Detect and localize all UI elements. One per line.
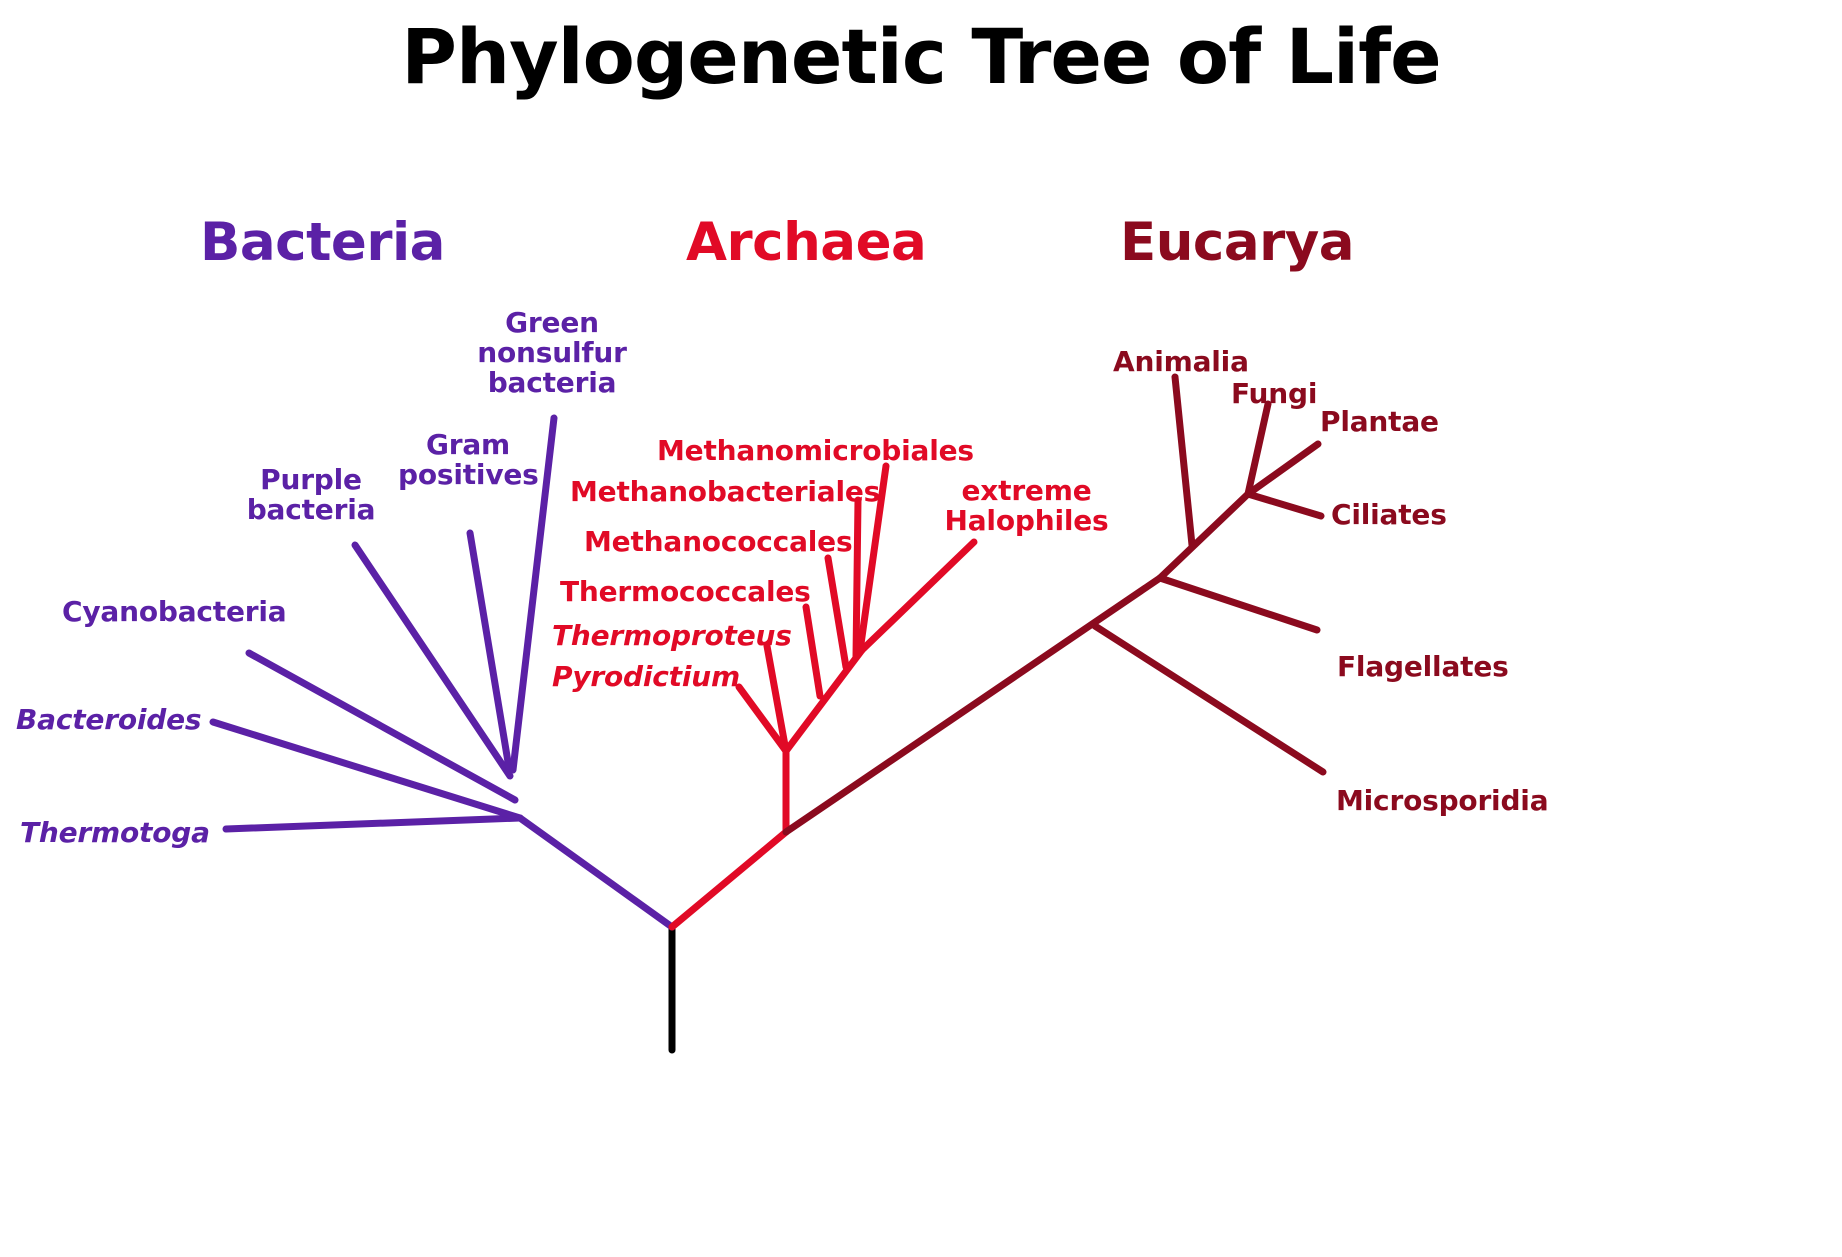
branch-purple xyxy=(355,545,510,776)
tree-branches-canvas xyxy=(0,0,1842,1257)
phylogenetic-tree-figure: Phylogenetic Tree of Life BacteriaArchae… xyxy=(0,0,1842,1257)
taxon-label-plantae: Plantae xyxy=(1320,407,1445,437)
branch-methanococcales xyxy=(828,558,846,667)
branch-thermococcales xyxy=(806,607,820,696)
taxon-label-flagellates: Flagellates xyxy=(1337,652,1512,682)
branch-halophiles xyxy=(862,542,974,650)
archaea-crown-1 xyxy=(786,650,862,751)
taxon-label-gram-positives: Gram positives xyxy=(398,430,538,490)
taxon-label-thermococcales: Thermococcales xyxy=(560,577,810,607)
taxon-label-methanobacteriales: Methanobacteriales xyxy=(570,477,875,507)
taxon-label-pyrodictium: Pyrodictium xyxy=(552,662,747,692)
domain-header-eucarya: Eucarya xyxy=(1120,212,1354,273)
eucarya-node-stem xyxy=(1160,494,1248,578)
taxon-label-methanococcales: Methanococcales xyxy=(584,527,846,557)
taxon-label-ciliates: Ciliates xyxy=(1331,500,1451,530)
taxon-label-extreme-halophiles: extreme Halophiles xyxy=(944,476,1109,536)
domain-header-archaea: Archaea xyxy=(686,212,926,273)
taxon-label-microsporidia: Microsporidia xyxy=(1336,786,1551,816)
branch-methanobacteriales xyxy=(856,500,858,657)
archaea-trunk xyxy=(672,832,786,927)
taxon-label-green-nonsulfur-bacteria: Green nonsulfur bacteria xyxy=(472,308,632,399)
branch-gram xyxy=(470,533,509,768)
branch-animalia xyxy=(1175,377,1192,545)
branch-bacteroides xyxy=(213,722,520,818)
bacteria-trunk xyxy=(520,818,672,927)
taxon-label-cyanobacteria: Cyanobacteria xyxy=(62,597,302,627)
branch-flagellates xyxy=(1160,578,1317,630)
branch-ciliates xyxy=(1248,494,1321,516)
taxon-label-purple-bacteria: Purple bacteria xyxy=(236,465,386,525)
eucarya-trunk xyxy=(786,578,1160,832)
taxon-label-bacteroides: Bacteroides xyxy=(16,705,216,735)
branch-thermotoga xyxy=(226,818,520,829)
taxon-label-thermoproteus: Thermoproteus xyxy=(552,621,792,651)
taxon-label-animalia: Animalia xyxy=(1113,347,1258,377)
taxon-label-methanomicrobiales: Methanomicrobiales xyxy=(657,436,967,466)
taxon-label-fungi: Fungi xyxy=(1231,379,1326,409)
branch-microsporidia xyxy=(1095,626,1323,772)
domain-header-bacteria: Bacteria xyxy=(200,212,445,273)
taxon-label-thermotoga: Thermotoga xyxy=(20,818,215,848)
